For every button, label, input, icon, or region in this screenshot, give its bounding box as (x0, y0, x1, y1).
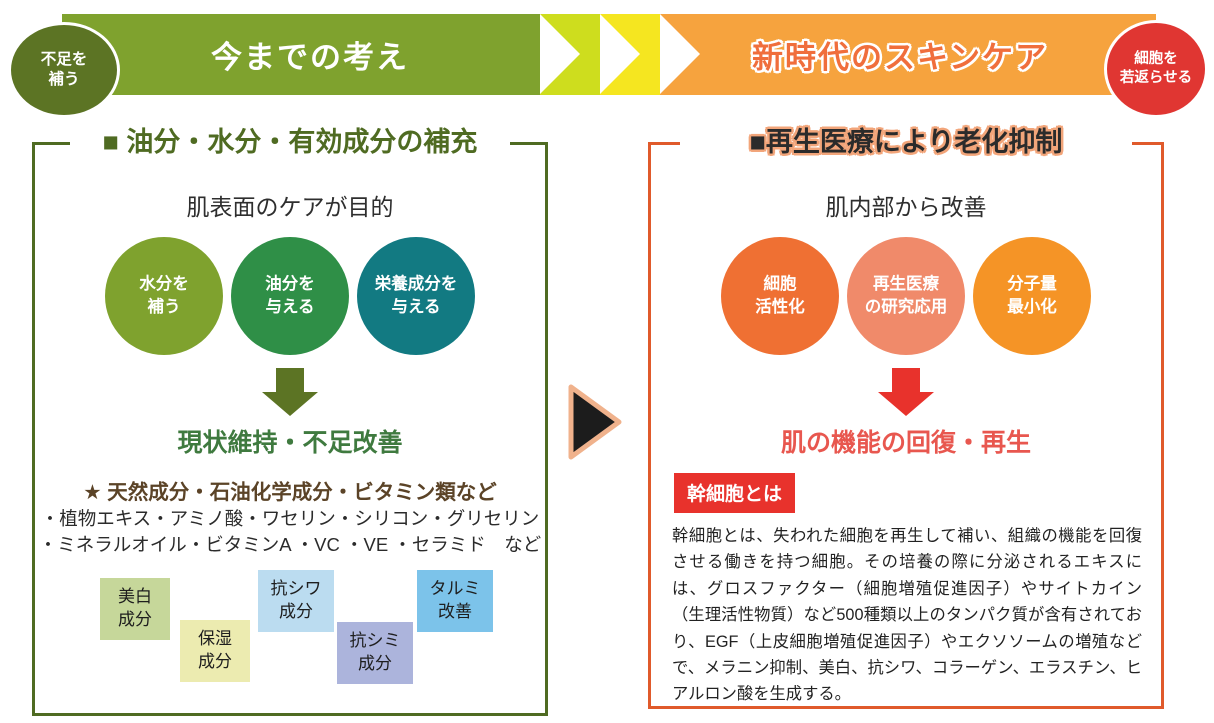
circle-moisture-line2: 補う (148, 296, 181, 319)
tag-sag-line1: タルミ (430, 578, 481, 601)
right-circle-row: 細胞 活性化 再生医療 の研究応用 分子量 最小化 (648, 237, 1164, 355)
banner-segment-4-notch (660, 14, 700, 94)
tag-whitening-line1: 美白 (118, 586, 152, 609)
left-circle-row: 水分を 補う 油分を 与える 栄養成分を 与える (32, 237, 548, 355)
right-down-arrow-icon (878, 368, 934, 416)
circle-moisture: 水分を 補う (105, 237, 223, 355)
left-result-text: 現状維持・不足改善 (32, 423, 548, 459)
banner-segment-2-notch (540, 14, 580, 94)
tag-moisturizing: 保湿 成分 (180, 620, 250, 682)
circle-nutrients-line1: 栄養成分を (375, 273, 458, 296)
right-panel-title: ■再生医療により老化抑制 (648, 120, 1164, 159)
tag-anti-spot: 抗シミ 成分 (337, 622, 413, 684)
circle-molecular-minimization-line2: 最小化 (1007, 296, 1057, 319)
left-panel-title: ■ 油分・水分・有効成分の補充 (32, 120, 548, 159)
right-result-text: 肌の機能の回復・再生 (648, 423, 1164, 459)
tag-sag-improvement: タルミ 改善 (417, 570, 493, 632)
circle-oil-line2: 与える (265, 296, 314, 319)
banner-segment-3 (600, 14, 660, 95)
ingredients-line-2: ・ミネラルオイル・ビタミンA ・VC ・VE ・セラミド など (32, 531, 548, 557)
banner-label-new-era: 新時代のスキンケア (700, 14, 1100, 95)
badge-rejuvenate-cells: 細胞を 若返らせる (1104, 20, 1208, 118)
circle-regenerative-research-line1: 再生医療 (873, 273, 939, 296)
tag-moisturizing-line1: 保湿 (198, 628, 232, 651)
badge-right-line1: 細胞を (1134, 50, 1178, 69)
circle-regenerative-research: 再生医療 の研究応用 (847, 237, 965, 355)
banner-label-old-approach: 今までの考え (120, 14, 500, 95)
circle-oil: 油分を 与える (231, 237, 349, 355)
badge-left-line1: 不足を (41, 50, 88, 70)
infographic-root: 今までの考え 新時代のスキンケア 不足を 補う 細胞を 若返らせる ■ 油分・水… (0, 0, 1214, 723)
tag-moisturizing-line2: 成分 (198, 651, 232, 674)
badge-supplement-deficiency: 不足を 補う (8, 22, 120, 118)
ingredients-line-1: ・植物エキス・アミノ酸・ワセリン・シリコン・グリセリン (32, 505, 548, 531)
circle-cell-activation: 細胞 活性化 (721, 237, 839, 355)
circle-regenerative-research-line2: の研究応用 (865, 296, 948, 319)
stem-cell-label: 幹細胞とは (674, 473, 795, 513)
badge-left-line2: 補う (48, 70, 79, 90)
tag-sag-line2: 改善 (438, 601, 472, 624)
circle-cell-activation-line1: 細胞 (764, 273, 797, 296)
ingredients-heading: ★ 天然成分・石油化学成分・ビタミン類など (32, 475, 548, 505)
circle-nutrients-line2: 与える (391, 296, 440, 319)
circle-oil-line1: 油分を (265, 273, 315, 296)
tag-anti-wrinkle-line1: 抗シワ (271, 578, 322, 601)
circle-moisture-line1: 水分を (139, 273, 189, 296)
right-arrow-head (878, 392, 934, 416)
left-down-arrow-icon (262, 368, 318, 416)
play-triangle-icon (567, 383, 623, 461)
circle-molecular-minimization-line1: 分子量 (1007, 273, 1057, 296)
tag-anti-spot-line1: 抗シミ (350, 630, 401, 653)
right-arrow-stem (892, 368, 920, 394)
right-panel-subhead: 肌内部から改善 (648, 188, 1164, 222)
tag-anti-wrinkle-line2: 成分 (279, 601, 313, 624)
left-arrow-stem (276, 368, 304, 394)
left-panel-conventional-care: ■ 油分・水分・有効成分の補充 肌表面のケアが目的 水分を 補う 油分を 与える… (32, 142, 548, 716)
left-arrow-head (262, 392, 318, 416)
banner-segment-3-notch (600, 14, 640, 94)
circle-cell-activation-line2: 活性化 (755, 296, 805, 319)
badge-right-line2: 若返らせる (1120, 69, 1192, 88)
tag-anti-wrinkle: 抗シワ 成分 (258, 570, 334, 632)
circle-molecular-minimization: 分子量 最小化 (973, 237, 1091, 355)
left-panel-subhead: 肌表面のケアが目的 (32, 188, 548, 222)
tag-whitening: 美白 成分 (100, 578, 170, 640)
right-panel-regenerative-care: ■再生医療により老化抑制 肌内部から改善 細胞 活性化 再生医療 の研究応用 分… (648, 142, 1164, 709)
circle-nutrients: 栄養成分を 与える (357, 237, 475, 355)
stem-cell-description: 幹細胞とは、失われた細胞を再生して補い、組織の機能を回復させる働きを持つ細胞。そ… (672, 523, 1142, 708)
banner-segment-2 (540, 14, 600, 95)
tag-whitening-line2: 成分 (118, 609, 152, 632)
tag-anti-spot-line2: 成分 (358, 653, 392, 676)
header-banner: 今までの考え 新時代のスキンケア 不足を 補う 細胞を 若返らせる (0, 14, 1214, 95)
